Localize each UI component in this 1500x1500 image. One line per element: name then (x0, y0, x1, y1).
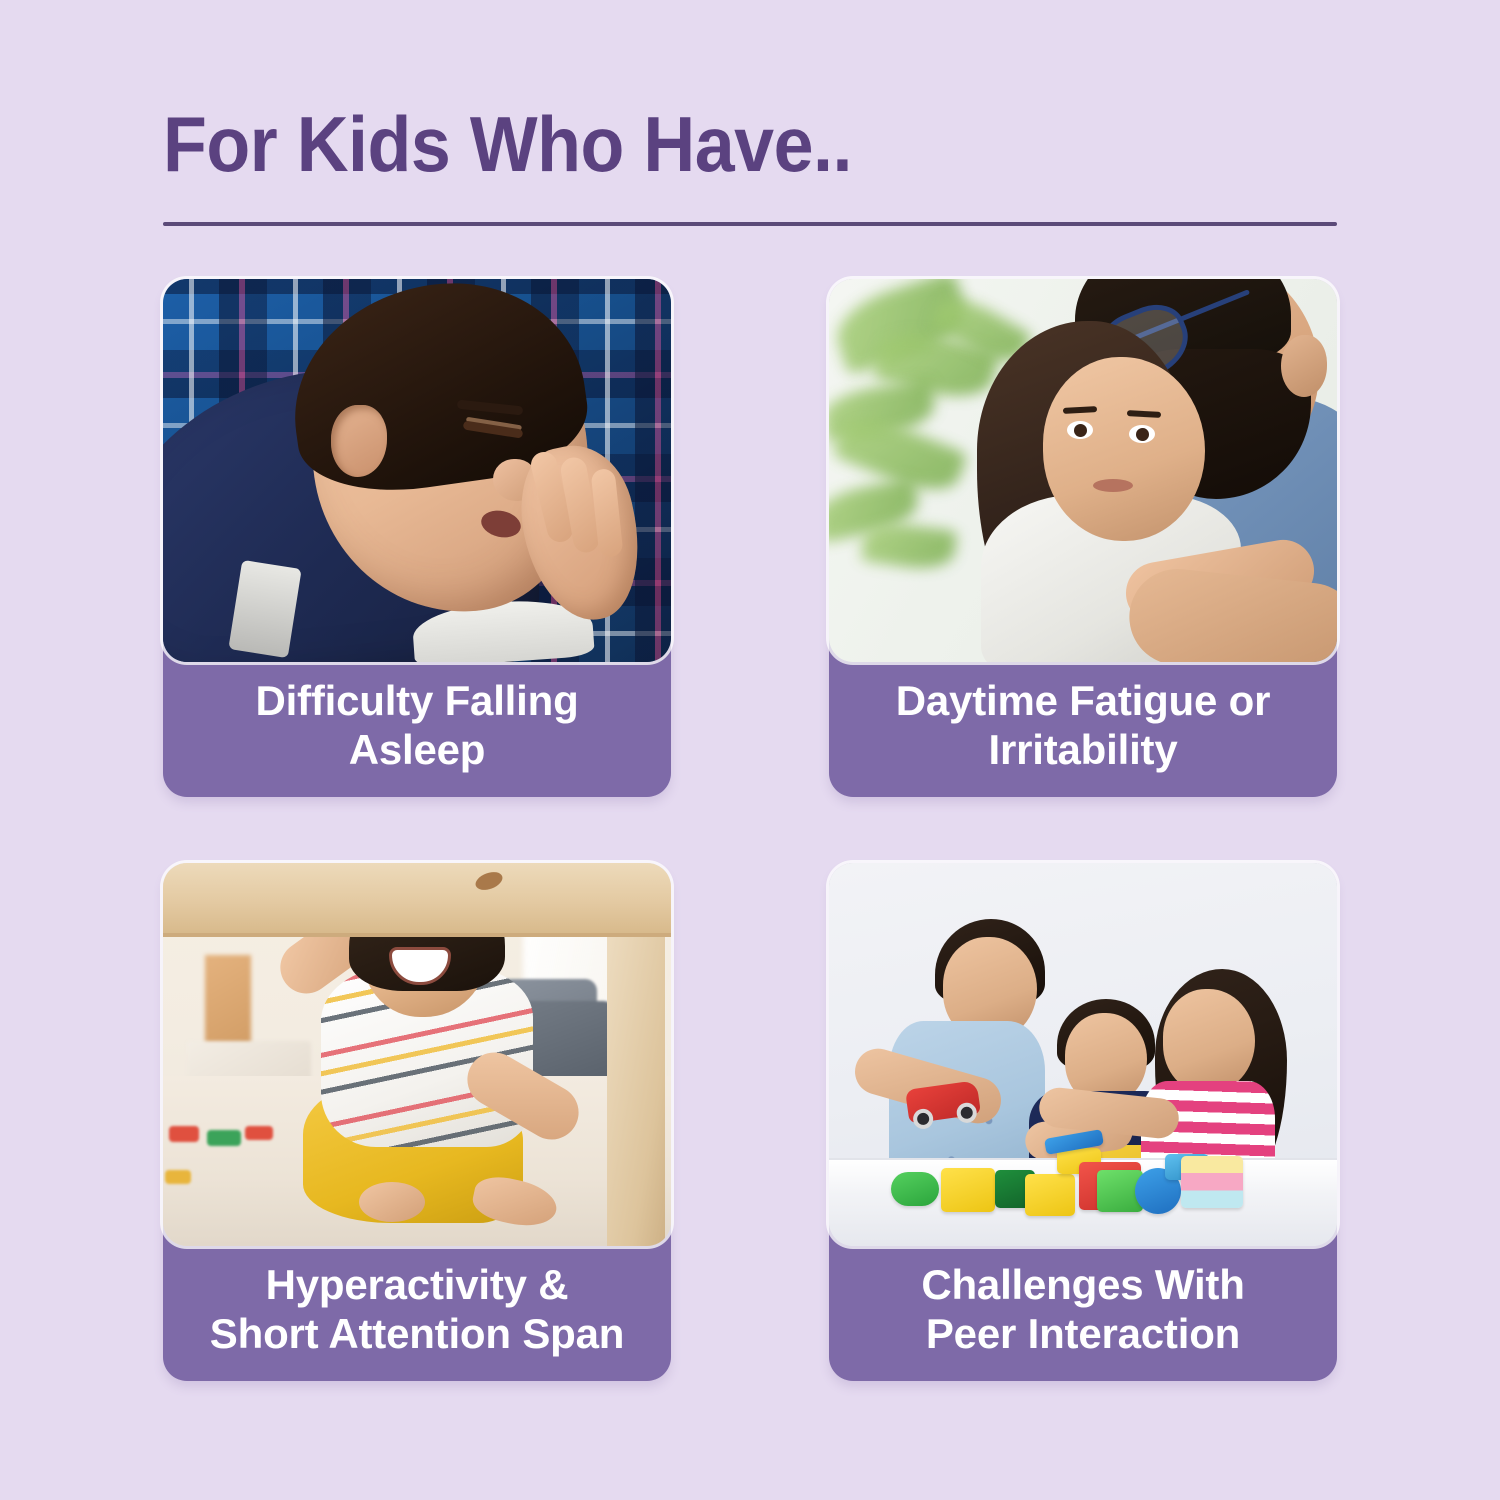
card-caption: Challenges With Peer Interaction (829, 1246, 1337, 1381)
symptom-card-grid: Difficulty Falling Asleep (163, 279, 1337, 1381)
girl-head (1043, 357, 1205, 541)
symptom-card-hyperactivity[interactable]: Hyperactivity & Short Attention Span (163, 863, 671, 1381)
toy-block (891, 1172, 939, 1206)
caption-line-1: Difficulty Falling (255, 676, 578, 726)
scattered-toy-block (169, 1126, 199, 1142)
table-leg (607, 923, 665, 1246)
photo-children-playing-blocks (829, 863, 1337, 1246)
caption-line-1: Challenges With (921, 1260, 1244, 1310)
symptom-card-difficulty-falling-asleep[interactable]: Difficulty Falling Asleep (163, 279, 671, 797)
father-ear (1281, 335, 1327, 397)
caption-line-2: Asleep (255, 725, 578, 775)
symptom-card-peer-interaction[interactable]: Challenges With Peer Interaction (829, 863, 1337, 1381)
symptom-card-daytime-fatigue[interactable]: Daytime Fatigue or Irritability (829, 279, 1337, 797)
girl-head (1163, 989, 1255, 1093)
page-title: For Kids Who Have.. (163, 104, 1243, 186)
toddler-knee (359, 1182, 425, 1222)
photo-sleeping-boy (163, 279, 671, 662)
card-caption: Difficulty Falling Asleep (163, 662, 671, 797)
caption-line-2: Peer Interaction (921, 1309, 1244, 1359)
title-divider (163, 222, 1337, 226)
scattered-toy-block (245, 1126, 273, 1140)
toy-block (1025, 1174, 1075, 1216)
card-caption: Hyperactivity & Short Attention Span (163, 1246, 671, 1381)
photo-girl-hugging-father (829, 279, 1337, 662)
card-caption: Daytime Fatigue or Irritability (829, 662, 1337, 797)
caption-line-2: Irritability (896, 725, 1270, 775)
caption-line-1: Hyperactivity & (210, 1260, 624, 1310)
caption-line-1: Daytime Fatigue or (896, 676, 1270, 726)
girl-mouth (1093, 479, 1133, 492)
girl-eye (1067, 421, 1093, 439)
wooden-table-top (163, 863, 671, 937)
photo-toddler-under-table (163, 863, 671, 1246)
caption-line-2: Short Attention Span (210, 1309, 624, 1359)
infographic-page: For Kids Who Have.. (0, 0, 1500, 1500)
toy-block (1181, 1156, 1243, 1208)
toy-block (941, 1168, 995, 1212)
header: For Kids Who Have.. (163, 104, 1337, 226)
girl-eye (1129, 425, 1155, 443)
scattered-toy-block (165, 1170, 191, 1184)
scattered-toy-block (207, 1130, 241, 1146)
